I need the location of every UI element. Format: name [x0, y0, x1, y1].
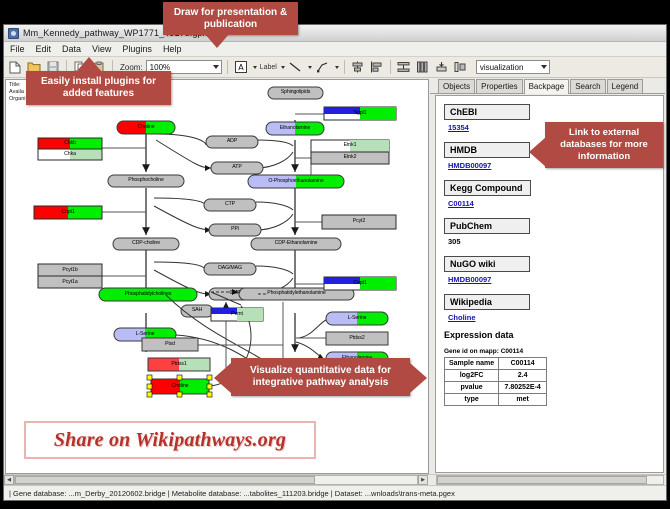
expr-key-pvalue: pvalue	[445, 382, 499, 394]
pathway-graphic	[6, 80, 429, 474]
pathvisio-app-icon	[8, 28, 19, 39]
toolbar-separator-4	[344, 60, 345, 74]
visualization-value: visualization	[480, 63, 524, 72]
table-row: type met	[445, 394, 547, 406]
expr-key-type: type	[445, 394, 499, 406]
db-header-nugo-wiki: NuGO wiki	[444, 256, 530, 272]
group-stack-icon[interactable]	[434, 59, 450, 75]
scroll-left-arrow-icon[interactable]: ◀	[4, 475, 14, 485]
db-header-hmdb: HMDB	[444, 142, 530, 158]
callout-quantitative-data: Visualize quantitative data for integrat…	[231, 358, 410, 396]
toolbar-separator-3	[227, 60, 228, 74]
db-header-kegg-compound: Kegg Compound	[444, 180, 531, 196]
callout-share-wikipathways: Share on Wikipathways.org	[24, 421, 316, 459]
callout-quant-arrow-left-icon	[214, 363, 231, 393]
order-tool-icon[interactable]	[453, 59, 469, 75]
distribute-vertical-icon[interactable]	[396, 59, 412, 75]
callout-plugins-arrow-icon	[76, 57, 102, 72]
menu-plugins[interactable]: Plugins	[121, 44, 153, 54]
toolbar-separator-5	[390, 60, 391, 74]
chevron-down-icon	[541, 65, 547, 69]
db-header-chebi: ChEBI	[444, 104, 530, 120]
callout-external-arrow-icon	[529, 137, 546, 167]
expr-val-log2fc: 2.4	[499, 370, 547, 382]
db-link-kegg-compound[interactable]: C00114	[448, 199, 663, 208]
svg-text:A: A	[238, 63, 244, 72]
tab-objects[interactable]: Objects	[438, 79, 475, 93]
horizontal-scrollbar-row: ◀ ▶	[4, 474, 666, 485]
expr-val-type: met	[499, 394, 547, 406]
align-center-icon[interactable]	[350, 59, 366, 75]
distribute-horizontal-icon[interactable]	[415, 59, 431, 75]
tab-properties[interactable]: Properties	[476, 79, 522, 93]
expr-key-sample-name: Sample name	[445, 358, 499, 370]
callout-draw-arrow-icon	[204, 33, 230, 48]
align-left-icon[interactable]	[369, 59, 385, 75]
pathway-canvas[interactable]: Title: Availa Organi	[5, 79, 429, 474]
scroll-right-arrow-icon[interactable]: ▶	[418, 475, 428, 485]
expr-val-sample-name: C00114	[499, 358, 547, 370]
chevron-down-icon	[213, 65, 219, 69]
connector-tool-icon[interactable]	[315, 59, 331, 75]
db-link-wikipedia[interactable]: Choline	[448, 313, 663, 322]
expression-data-title: Expression data	[444, 330, 663, 340]
callout-install-plugins: Easily install plugins for added feature…	[26, 71, 171, 105]
db-link-nugo-wiki[interactable]: HMDB00097	[448, 275, 663, 284]
gene-id-on-mapp: Gene id on mapp: C00114	[444, 348, 663, 355]
panel-hscrollbar[interactable]	[436, 475, 664, 485]
label-tool-dropdown-icon[interactable]	[281, 66, 285, 69]
callout-external-databases: Link to external databases for more info…	[545, 122, 663, 168]
expression-table: Sample name C00114 log2FC 2.4 pvalue 7.8…	[444, 357, 547, 406]
table-row: log2FC 2.4	[445, 370, 547, 382]
title-bar: Mm_Kennedy_pathway_WP1771_45176.gpml	[4, 25, 666, 42]
status-bar: | Gene database: ...m_Derby_20120602.bri…	[4, 485, 666, 500]
db-header-wikipedia: Wikipedia	[444, 294, 530, 310]
line-tool-dropdown-icon[interactable]	[308, 66, 312, 69]
db-value-pubchem: 305	[448, 237, 663, 246]
new-file-icon[interactable]	[7, 59, 23, 75]
text-tool-dropdown-icon[interactable]	[253, 66, 257, 69]
connector-tool-dropdown-icon[interactable]	[335, 66, 339, 69]
status-text: | Gene database: ...m_Derby_20120602.bri…	[9, 489, 455, 498]
tab-search[interactable]: Search	[570, 79, 605, 93]
text-tool-icon[interactable]: A	[233, 59, 249, 75]
canvas-hscrollbar[interactable]	[14, 475, 418, 485]
db-header-pubchem: PubChem	[444, 218, 530, 234]
callout-draw-for-presentation: Draw for presentation & publication	[163, 2, 298, 35]
menu-help[interactable]: Help	[162, 44, 183, 54]
table-row: pvalue 7.80252E-4	[445, 382, 547, 394]
table-row: Sample name C00114	[445, 358, 547, 370]
expr-val-pvalue: 7.80252E-4	[499, 382, 547, 394]
tab-legend[interactable]: Legend	[607, 79, 644, 93]
menu-edit[interactable]: Edit	[35, 44, 53, 54]
line-tool-icon[interactable]	[288, 59, 304, 75]
callout-quant-arrow-right-icon	[410, 363, 427, 393]
menu-data[interactable]: Data	[61, 44, 82, 54]
visualization-combo[interactable]: visualization	[476, 60, 550, 74]
menu-bar: File Edit Data View Plugins Help	[4, 42, 666, 57]
menu-view[interactable]: View	[91, 44, 112, 54]
side-panel-tabs: Objects Properties Backpage Search Legen…	[430, 79, 665, 94]
expr-key-log2fc: log2FC	[445, 370, 499, 382]
tab-backpage[interactable]: Backpage	[524, 79, 570, 94]
menu-file[interactable]: File	[9, 44, 26, 54]
label-tool-label: Label	[260, 64, 277, 71]
